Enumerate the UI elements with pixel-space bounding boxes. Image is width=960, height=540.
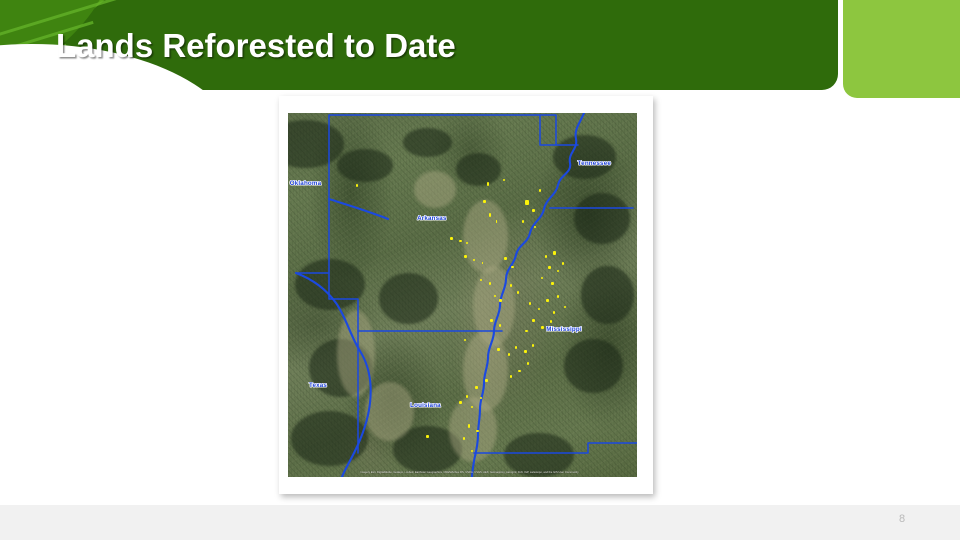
reforestation-site-marker [499, 299, 501, 302]
slide-footer-band [0, 505, 960, 540]
reforestation-site-marker [518, 370, 520, 373]
slide-canvas: Lands Reforested to Date [0, 0, 960, 540]
reforestation-site-marker [499, 324, 501, 326]
reforestation-site-marker [522, 220, 524, 223]
map-image[interactable]: Oklahoma Tennessee Arkansas Mississippi … [288, 113, 637, 477]
reforestation-site-marker [525, 330, 527, 333]
reforestation-site-marker [553, 251, 555, 255]
map-label-texas: Texas [309, 382, 327, 389]
map-label-tennessee: Tennessee [578, 160, 611, 167]
reforestation-site-marker [497, 348, 499, 351]
page-number: 8 [890, 513, 914, 525]
reforestation-site-marker [524, 350, 527, 353]
reforestation-site-marker [504, 257, 507, 260]
map-vector-overlay [288, 113, 637, 477]
reforestation-site-marker [468, 424, 471, 427]
reforestation-site-marker [464, 255, 467, 258]
reforestation-site-marker [426, 435, 429, 438]
header-accent-block [843, 0, 960, 98]
reforestation-site-marker [515, 346, 517, 349]
state-boundary-la-south [474, 443, 637, 453]
reforestation-site-marker [490, 319, 493, 322]
red-river [296, 273, 371, 477]
reforestation-site-marker [541, 326, 544, 329]
reforestation-site-marker [548, 266, 551, 269]
map-label-arkansas: Arkansas [417, 215, 446, 222]
reforestation-site-marker [489, 213, 491, 217]
reforestation-site-marker [551, 282, 553, 285]
reforestation-site-marker [503, 179, 505, 181]
reforestation-site-marker [463, 437, 465, 440]
map-label-louisiana: Louisiana [410, 402, 441, 409]
reforestation-site-marker [525, 200, 528, 205]
reforestation-site-marker [532, 319, 535, 322]
reforestation-site-marker [510, 375, 512, 378]
reforestation-site-marker [489, 282, 491, 285]
state-boundary-ok-ar [296, 117, 329, 273]
reforestation-site-marker [475, 386, 478, 389]
reforestation-site-marker [487, 182, 489, 185]
reforestation-site-marker [356, 184, 358, 187]
reforestation-site-marker [527, 362, 529, 364]
reforestation-site-marker [562, 262, 564, 264]
mississippi-river [472, 113, 584, 477]
reforestation-site-marker [557, 270, 559, 273]
map-figure-frame: Oklahoma Tennessee Arkansas Mississippi … [279, 96, 653, 494]
reforestation-site-marker [459, 240, 462, 242]
map-label-mississippi: Mississippi [546, 326, 582, 333]
reforestation-site-marker [483, 200, 485, 203]
reforestation-site-marker [510, 284, 512, 287]
reforestation-site-marker [466, 395, 468, 398]
reforestation-site-marker [485, 379, 487, 382]
reforestation-site-marker [480, 279, 482, 281]
reforestation-site-marker [517, 291, 519, 293]
reforestation-site-marker [476, 430, 478, 433]
reforestation-site-marker [459, 401, 462, 404]
map-attribution: Imagery Esri, DigitalGlobe, GeoEye, i-cu… [312, 471, 626, 475]
map-label-oklahoma: Oklahoma [290, 180, 322, 187]
state-boundary-tn-ky [540, 115, 556, 145]
arkansas-river [329, 199, 388, 219]
page-title: Lands Reforested to Date [56, 27, 456, 65]
reforestation-site-marker [546, 299, 548, 302]
reforestation-site-marker [473, 259, 475, 261]
